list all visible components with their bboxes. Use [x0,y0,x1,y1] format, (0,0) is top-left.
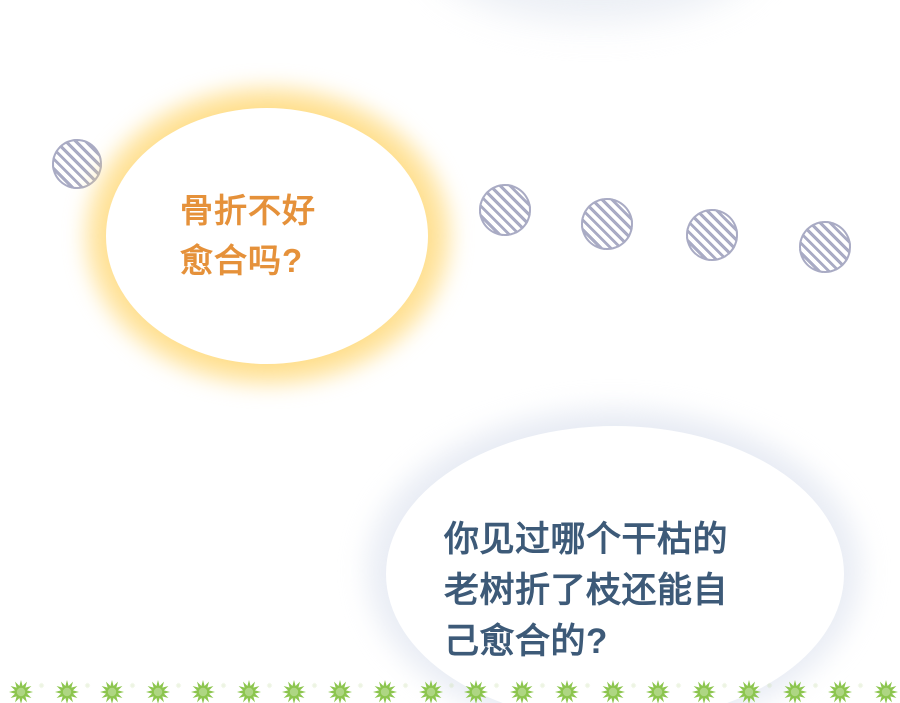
green-star-border [0,669,900,703]
green-star-icon [827,679,853,703]
green-star-icon [782,679,808,703]
green-star-small-icon [812,676,819,683]
green-star-icon [736,679,762,703]
upper-panel-shadow [430,0,760,22]
green-star-icon [99,679,125,703]
green-star-icon [691,679,717,703]
green-star-icon [281,679,307,703]
speech-bubble-answer[interactable]: 你见过哪个干枯的 老树折了枝还能自 己愈合的? [386,426,844,703]
comic-panel: 骨折不好 愈合吗? 你见过哪个干枯的 老树折了枝还能自 己愈合的? [0,0,900,703]
green-star-icon [509,679,535,703]
striped-circle-1 [52,139,102,189]
green-star-small-icon [766,676,773,683]
green-star-small-icon [584,676,591,683]
green-star-small-icon [84,676,91,683]
striped-circle-6 [581,198,633,250]
green-star-small-icon [857,676,864,683]
green-star-small-icon [266,676,273,683]
green-star-icon [873,679,899,703]
green-star-small-icon [175,676,182,683]
green-star-small-icon [402,676,409,683]
green-star-strip [0,673,900,703]
striped-circle-7 [686,209,738,261]
green-star-small-icon [493,676,500,683]
green-star-icon [236,679,262,703]
green-star-icon [418,679,444,703]
green-star-icon [372,679,398,703]
green-star-icon [463,679,489,703]
speech-bubble-question[interactable]: 骨折不好 愈合吗? [106,108,428,364]
speech-bubble-question-text: 骨折不好 愈合吗? [180,186,316,286]
green-star-icon [554,679,580,703]
green-star-small-icon [630,676,637,683]
speech-bubble-answer-text: 你见过哪个干枯的 老树折了枝还能自 己愈合的? [444,514,728,667]
green-star-small-icon [38,676,45,683]
striped-circle-5 [479,184,531,236]
green-star-icon [8,679,34,703]
green-star-small-icon [311,676,318,683]
green-star-small-icon [721,676,728,683]
green-star-icon [54,679,80,703]
striped-circle-8 [799,221,851,273]
green-star-small-icon [448,676,455,683]
green-star-small-icon [220,676,227,683]
green-star-icon [327,679,353,703]
green-star-icon [145,679,171,703]
green-star-small-icon [675,676,682,683]
green-star-icon [645,679,671,703]
green-star-small-icon [539,676,546,683]
green-star-icon [600,679,626,703]
green-star-icon [190,679,216,703]
green-star-small-icon [357,676,364,683]
green-star-small-icon [129,676,136,683]
